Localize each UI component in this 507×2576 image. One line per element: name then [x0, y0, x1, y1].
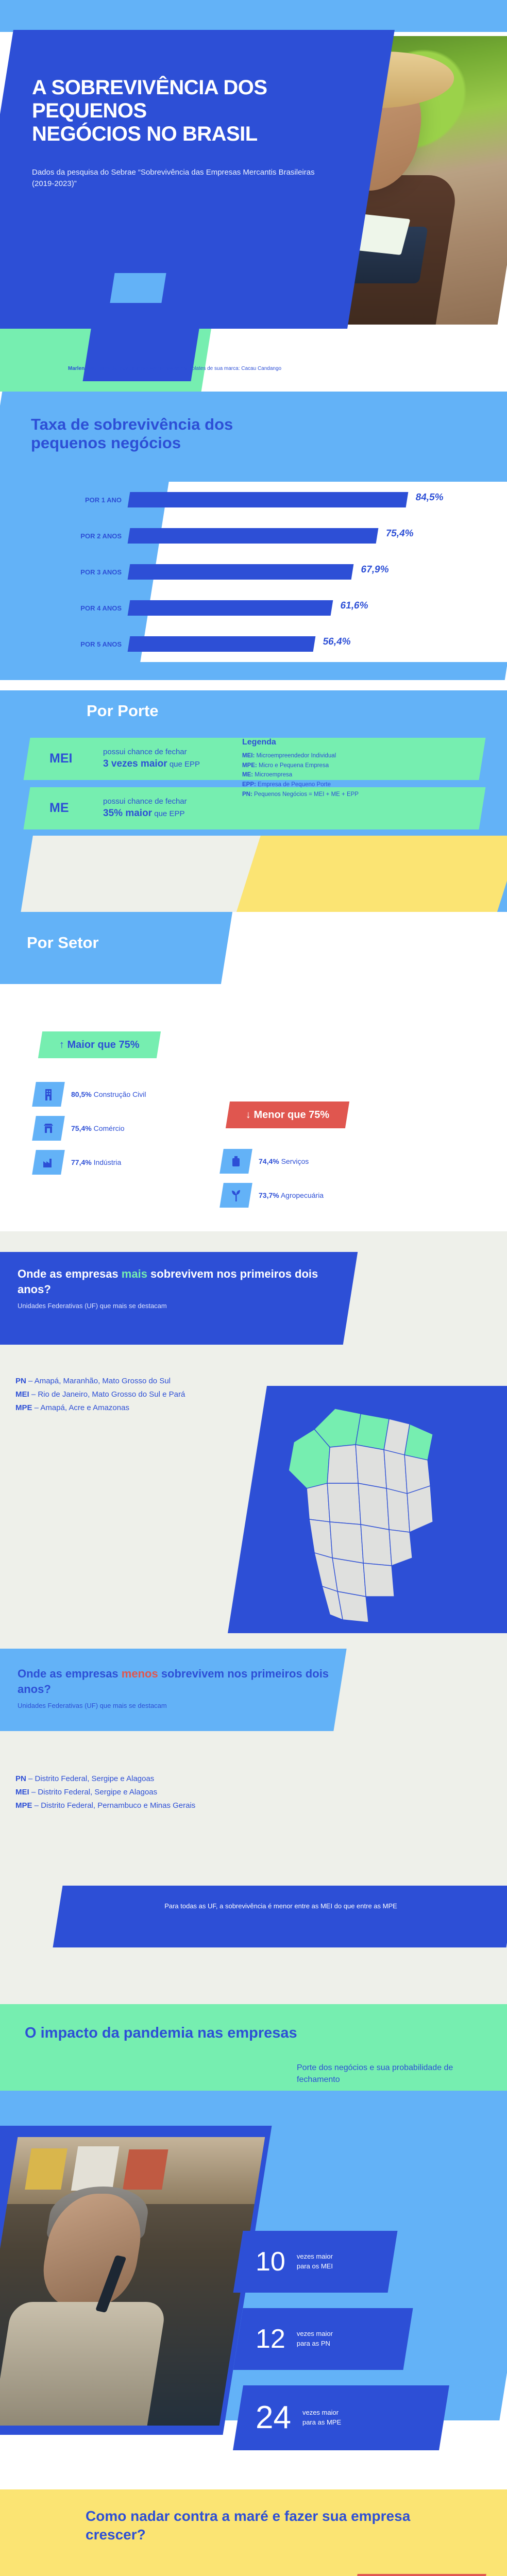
survival-bar-chart: POR 1 ANO 84,5% POR 2 ANOS 75,4% POR 3 A… — [129, 482, 507, 662]
brazil-map-svg — [278, 1393, 448, 1625]
setor-label-industria: 77,4% Indústria — [71, 1158, 121, 1166]
por-porte-title: Por Porte — [87, 702, 159, 720]
setor-label-servicos: 74,4% Serviços — [259, 1157, 309, 1165]
bar-category-label: POR 3 ANOS — [34, 568, 122, 576]
porte-code-me: ME — [49, 801, 81, 816]
factory-icon — [32, 1150, 65, 1175]
top-strip — [0, 0, 507, 32]
nadar-title: Como nadar contra a maré e fazer sua emp… — [86, 2507, 457, 2545]
hero-subtitle: Dados da pesquisa do Sebrae “Sobrevivênc… — [32, 167, 330, 190]
chart-row: POR 4 ANOS 61,6% — [129, 590, 507, 626]
stat-caption: vezes maiorpara as PN — [297, 2329, 333, 2349]
building-icon — [32, 1082, 65, 1107]
setor-row-servicos: 74,4% Serviços — [222, 1149, 309, 1174]
stat-number: 24 — [256, 2402, 291, 2434]
bar-3: 67,9% — [128, 564, 354, 580]
decor-chip-light — [110, 273, 166, 303]
chart-row: POR 2 ANOS 75,4% — [129, 518, 507, 554]
pill-maior-que-75: ↑ Maior que 75% — [38, 1031, 161, 1058]
bar-5: 56,4% — [128, 636, 316, 652]
infographic-page: A SOBREVIVÊNCIA DOS PEQUENOS NEGÓCIOS NO… — [0, 0, 507, 2576]
bar-4: 61,6% — [128, 600, 333, 616]
stat-caption: vezes maiorpara os MEI — [297, 2252, 333, 2272]
setor-label-comercio: 75,4% Comércio — [71, 1124, 125, 1132]
como-nadar-section: Como nadar contra a maré e fazer sua emp… — [0, 2478, 507, 2576]
bar-value-3: 67,9% — [360, 564, 390, 575]
taxa-title: Taxa de sobrevivência dos pequenos negóc… — [31, 415, 273, 452]
legend-yellow-shape — [236, 836, 507, 913]
bar-category-label: POR 1 ANO — [34, 496, 122, 504]
mapa-mais-question: Onde as empresas mais sobrevivem nos pri… — [18, 1266, 347, 1297]
setor-row-industria: 77,4% Indústria — [34, 1150, 121, 1175]
caption-rest: apresenta os chocolates de sua marca: Ca… — [148, 366, 281, 371]
hero-section: A SOBREVIVÊNCIA DOS PEQUENOS NEGÓCIOS NO… — [0, 0, 507, 392]
por-setor-section: Por Setor ↑ Maior que 75% ↓ Menor que 75… — [0, 912, 507, 1231]
legend-content: Legenda MEI: Microempreendedor Individua… — [242, 738, 484, 799]
mapa-menos-note-shape — [53, 1886, 507, 1947]
bar-value-1: 84,5% — [415, 492, 444, 503]
chart-row: POR 5 ANOS 56,4% — [129, 626, 507, 662]
page-title: A SOBREVIVÊNCIA DOS PEQUENOS NEGÓCIOS NO… — [32, 76, 330, 145]
list-item: MPE – Distrito Federal, Pernambuco e Min… — [15, 1799, 195, 1812]
pandemia-subtitle: Porte dos negócios e sua probabilidade d… — [297, 2062, 493, 2086]
mapa-menos-list: PN – Distrito Federal, Sergipe e Alagoas… — [15, 1772, 195, 1812]
pandemia-stat-mpe: 24 vezes maiorpara as MPE — [233, 2385, 449, 2450]
porte-code-mei: MEI — [49, 752, 81, 767]
hero-photo-caption: Marlene Marques do Nascimento apresenta … — [68, 365, 460, 372]
mapa-mais-list: PN – Amapá, Maranhão, Mato Grosso do Sul… — [15, 1375, 185, 1414]
legend-panel — [21, 836, 488, 913]
mapa-menos-note: Para todas as UF, a sobrevivência é meno… — [77, 1901, 484, 1912]
bar-value-4: 61,6% — [340, 600, 369, 612]
legend-title: Legenda — [242, 738, 484, 747]
legend-item: PN: Pequenos Negócios = MEI + ME + EPP — [242, 790, 484, 800]
bar-category-label: POR 2 ANOS — [34, 532, 122, 540]
pill-menor-que-75: ↓ Menor que 75% — [226, 1101, 349, 1128]
caption-person-name: Marlene Marques do Nascimento — [68, 366, 148, 371]
mapa-mais-subtitle: Unidades Federativas (UF) que mais se de… — [18, 1302, 347, 1310]
mapa-menos-question: Onde as empresas menos sobrevivem nos pr… — [18, 1666, 337, 1697]
bar-category-label: POR 4 ANOS — [34, 604, 122, 612]
list-item: MEI – Distrito Federal, Sergipe e Alagoa… — [15, 1786, 195, 1799]
porte-text-mei: possui chance de fechar 3 vezes maior qu… — [103, 747, 200, 771]
mapa-menos-section: Onde as empresas menos sobrevivem nos pr… — [0, 1643, 507, 2004]
porte-text-me: possui chance de fechar 35% maior que EP… — [103, 796, 187, 821]
list-item: MPE – Amapá, Acre e Amazonas — [15, 1401, 185, 1415]
pandemia-title: O impacto da pandemia nas empresas — [25, 2025, 297, 2042]
bar-1: 84,5% — [128, 492, 409, 507]
chart-row: POR 3 ANOS 67,9% — [129, 554, 507, 590]
setor-label-agropecuaria: 73,7% Agropecuária — [259, 1191, 324, 1199]
stat-number: 12 — [256, 2326, 285, 2352]
setor-row-agropecuaria: 73,7% Agropecuária — [222, 1183, 324, 1208]
store-icon — [32, 1116, 65, 1141]
setor-row-construcao: 80,5% Construção Civil — [34, 1082, 146, 1107]
legend-item: ME: Microempresa — [242, 770, 484, 780]
setor-row-comercio: 75,4% Comércio — [34, 1116, 125, 1141]
list-item: PN – Amapá, Maranhão, Mato Grosso do Sul — [15, 1375, 185, 1388]
pandemia-photo — [0, 2137, 265, 2426]
bar-value-2: 75,4% — [385, 528, 414, 539]
pandemia-stat-pn: 12 vezes maiorpara as PN — [233, 2308, 413, 2370]
survival-rate-section: Taxa de sobrevivência dos pequenos negóc… — [0, 392, 507, 690]
bar-category-label: POR 5 ANOS — [34, 640, 122, 648]
pandemia-stat-mei: 10 vezes maiorpara os MEI — [233, 2231, 397, 2293]
plant-icon — [219, 1183, 252, 1208]
bar-2: 75,4% — [128, 528, 379, 544]
stat-caption: vezes maiorpara as MPE — [302, 2408, 341, 2428]
list-item: MEI – Rio de Janeiro, Mato Grosso do Sul… — [15, 1388, 185, 1401]
setor-label-construcao: 80,5% Construção Civil — [71, 1090, 146, 1098]
bar-value-5: 56,4% — [322, 636, 351, 648]
mapa-menos-subtitle: Unidades Federativas (UF) que mais se de… — [18, 1702, 337, 1709]
da-uma-olhada-button[interactable]: Dá uma olhada! — [353, 2574, 486, 2576]
briefcase-icon — [219, 1149, 252, 1174]
stat-number: 10 — [256, 2248, 285, 2275]
mapa-mais-section: Onde as empresas mais sobrevivem nos pri… — [0, 1231, 507, 1643]
pandemia-section: O impacto da pandemia nas empresas Porte… — [0, 2004, 507, 2478]
brazil-map-mais — [228, 1386, 507, 1633]
por-setor-title: Por Setor — [27, 934, 99, 952]
legend-item: MEI: Microempreendedor Individual — [242, 751, 484, 761]
legend-item: EPP: Empresa de Pequeno Porte — [242, 780, 484, 790]
chart-row: POR 1 ANO 84,5% — [129, 482, 507, 518]
list-item: PN – Distrito Federal, Sergipe e Alagoas — [15, 1772, 195, 1786]
legend-item: MPE: Micro e Pequena Empresa — [242, 761, 484, 771]
por-porte-section: Por Porte MEI possui chance de fechar 3 … — [0, 690, 507, 912]
